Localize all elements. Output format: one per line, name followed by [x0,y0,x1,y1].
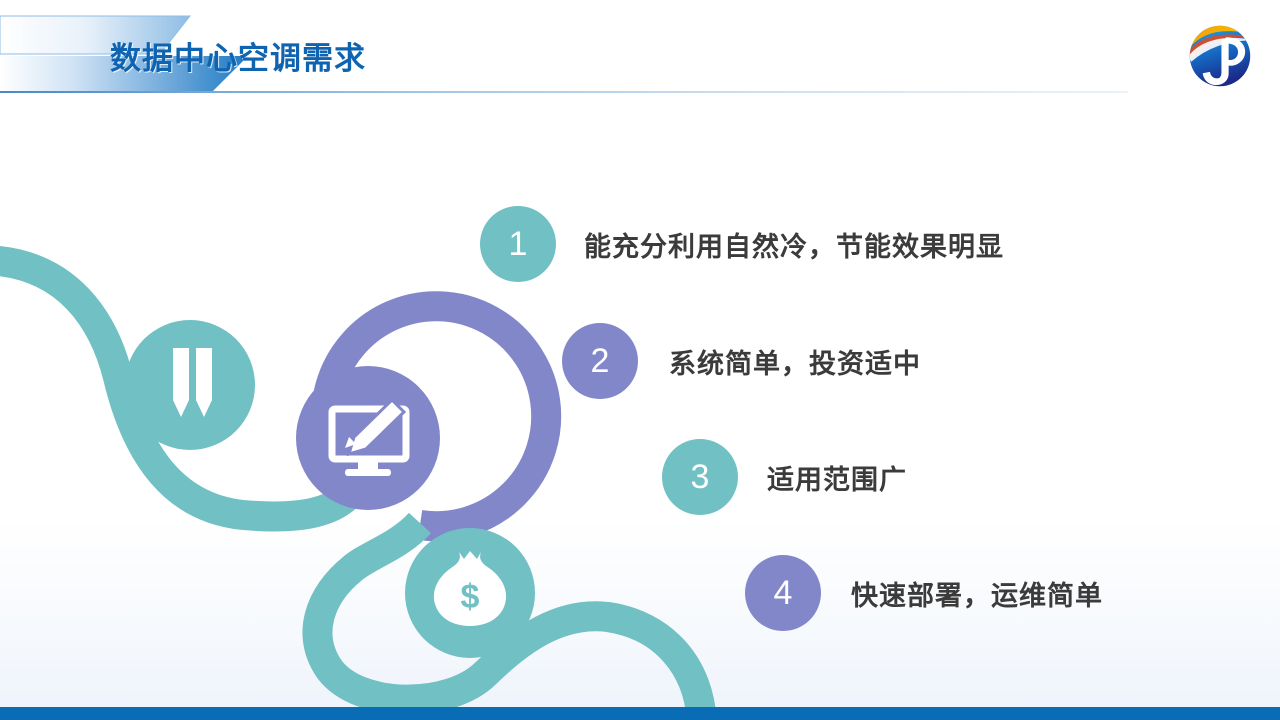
bullet-text: 适用范围广 [767,458,907,497]
company-logo [1184,20,1256,92]
bullet-text: 能充分利用自然冷，节能效果明显 [584,225,1004,264]
bullet-text: 快速部署，运维简单 [851,574,1103,613]
header-divider [0,91,1128,93]
page-title: 数据中心空调需求 [110,33,366,78]
list-item[interactable]: 3 适用范围广 [662,439,907,515]
bullet-number-badge: 2 [562,323,638,399]
pencils-icon [125,320,255,450]
list-item[interactable]: 4 快速部署，运维简单 [745,555,1103,631]
svg-text:$: $ [461,578,480,616]
slide-canvas: 数据中心空调需求 [0,0,1280,720]
bullet-text: 系统简单，投资适中 [669,342,921,381]
bullet-number-badge: 3 [662,439,738,515]
bullet-list: 1 能充分利用自然冷，节能效果明显 2 系统简单，投资适中 3 适用范围广 4 … [480,190,1270,660]
list-item[interactable]: 2 系统简单，投资适中 [562,323,921,399]
footer-bar [0,707,1280,720]
bullet-number-badge: 1 [480,206,556,282]
list-item[interactable]: 1 能充分利用自然冷，节能效果明显 [480,206,1004,282]
slide-header: 数据中心空调需求 [0,0,1280,95]
monitor-pencil-icon [296,366,440,510]
bullet-number-badge: 4 [745,555,821,631]
